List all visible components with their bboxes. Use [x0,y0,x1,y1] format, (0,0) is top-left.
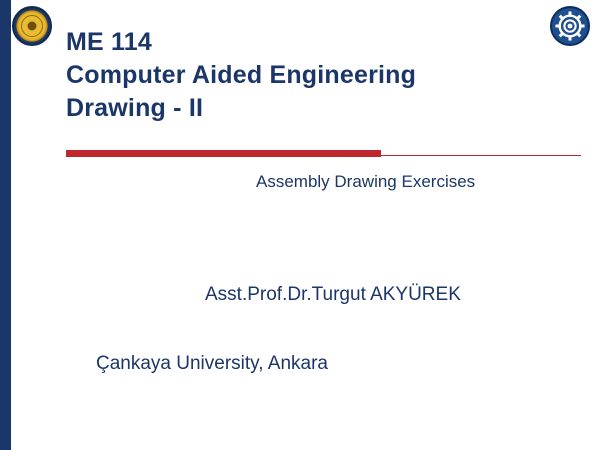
title-line-2: Computer Aided Engineering [66,59,566,92]
title-line-1: ME 114 [66,26,566,59]
seal-inner-ring [21,15,43,37]
affiliation-text: Çankaya University, Ankara [96,353,328,375]
presentation-slide: ME 114 Computer Aided Engineering Drawin… [0,0,600,450]
title-thick-rule [66,150,381,157]
slide-subtitle: Assembly Drawing Exercises [256,172,475,192]
left-accent-bar [0,0,11,450]
author-name: Asst.Prof.Dr.Turgut AKYÜREK [205,284,461,306]
slide-title: ME 114 Computer Aided Engineering Drawin… [66,26,566,125]
university-seal-logo-icon [12,6,52,46]
title-line-3: Drawing - II [66,92,566,125]
